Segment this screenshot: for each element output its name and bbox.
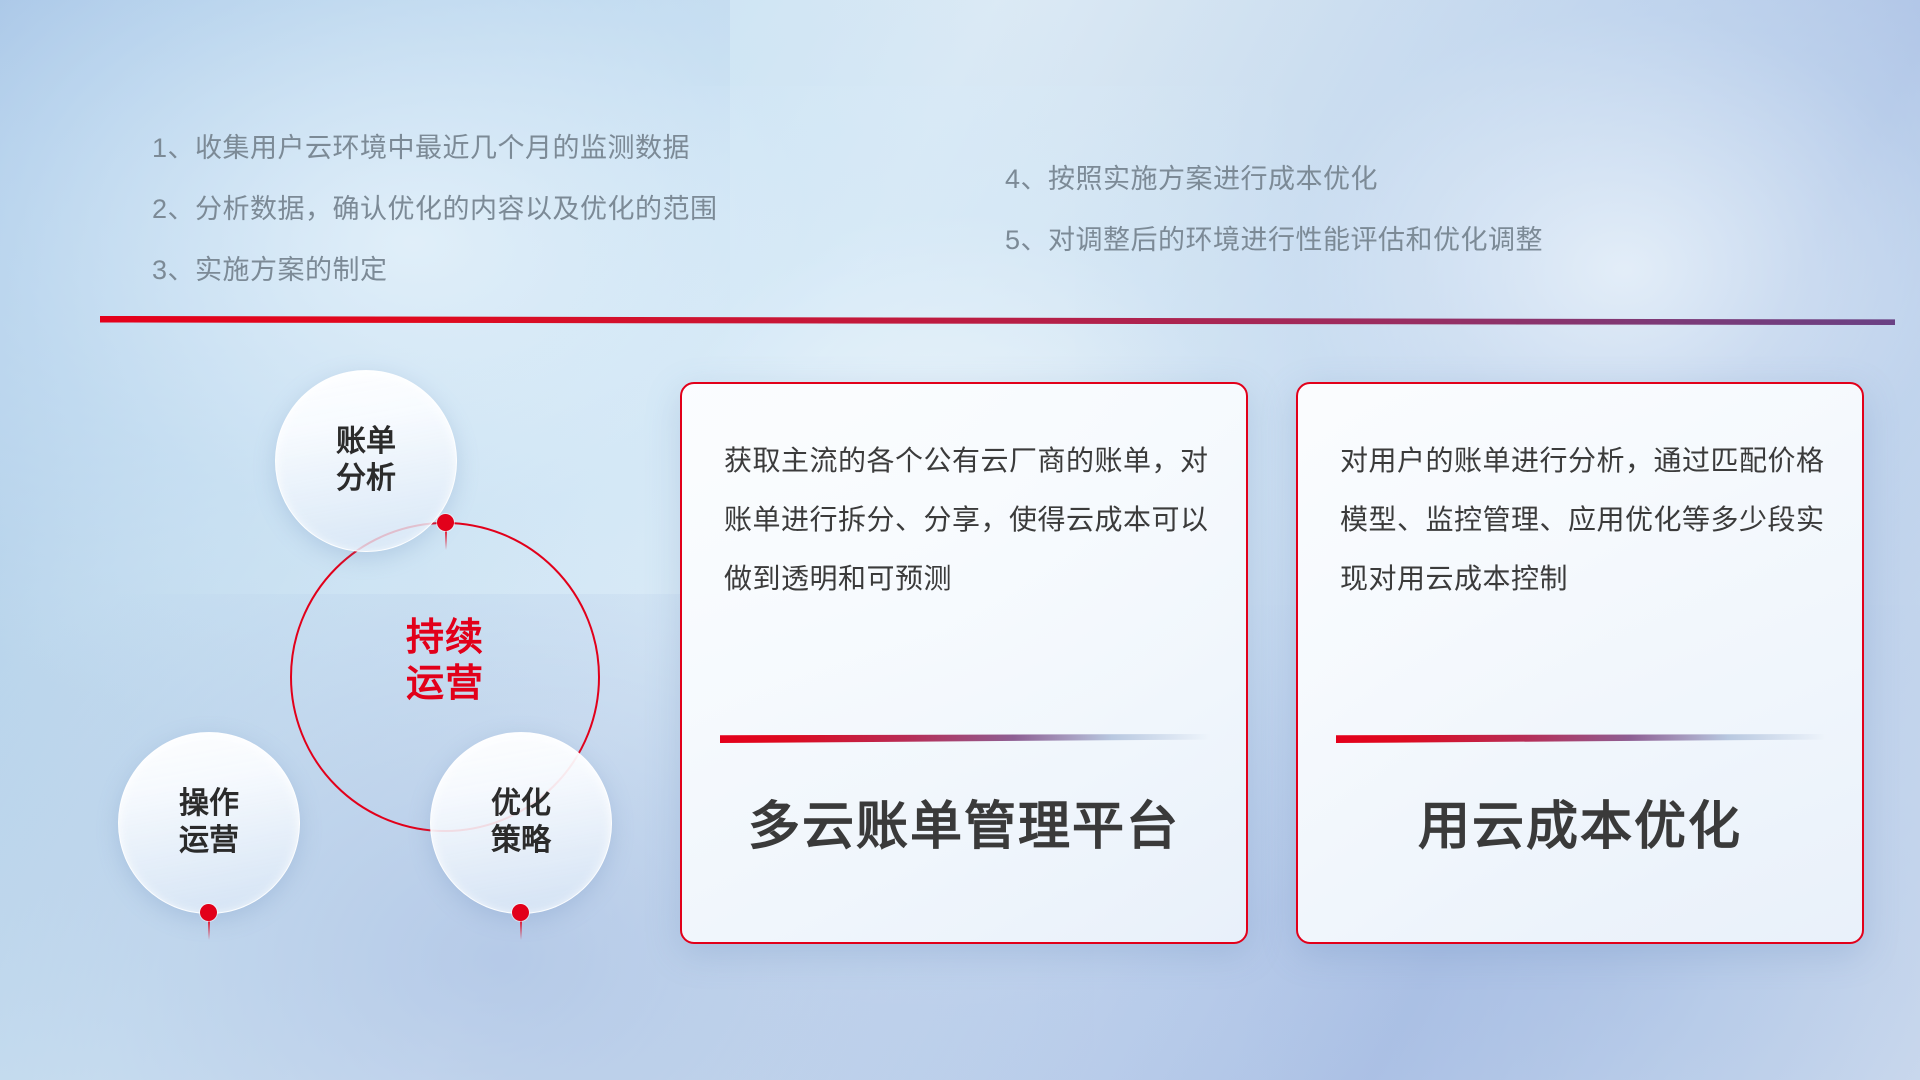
- card-accent-bar: [720, 734, 1210, 743]
- diagram-connector-tick-right: [520, 918, 522, 940]
- diagram-bubble-optimization[interactable]: 优化 策略: [430, 732, 612, 914]
- bubble-label-line2: 策略: [491, 823, 551, 860]
- divider-gradient-bar: [100, 316, 1895, 325]
- card-accent-bar: [1336, 734, 1826, 743]
- bubble-label-line1: 优化: [491, 786, 551, 823]
- step-item-2: 2、分析数据，确认优化的内容以及优化的范围: [152, 187, 718, 226]
- bubble-label-wrap: 优化 策略: [491, 786, 551, 859]
- step-item-4: 4、按照实施方案进行成本优化: [1005, 157, 1378, 196]
- diagram-bubble-operations[interactable]: 操作 运营: [118, 732, 300, 914]
- step-item-3: 3、实施方案的制定: [152, 248, 388, 287]
- card-body-text: 获取主流的各个公有云厂商的账单，对账单进行拆分、分享，使得云成本可以做到透明和可…: [724, 432, 1212, 608]
- card-accent-rule: [1336, 734, 1826, 743]
- step-item-5: 5、对调整后的环境进行性能评估和优化调整: [1005, 218, 1543, 257]
- card-title: 多云账单管理平台: [682, 784, 1246, 859]
- diagram-center-label: 持续 运营: [290, 616, 600, 707]
- step-item-1: 1、收集用户云环境中最近几个月的监测数据: [152, 126, 690, 165]
- diagram-node-dot-top: [437, 514, 454, 531]
- steps-section: 1、收集用户云环境中最近几个月的监测数据 2、分析数据，确认优化的内容以及优化的…: [0, 0, 1920, 300]
- diagram-node-dot-right: [512, 904, 529, 921]
- card-body-text: 对用户的账单进行分析，通过匹配价格模型、监控管理、应用优化等多少段实现对用云成本…: [1340, 432, 1828, 608]
- diagram-center-label-line1: 持续: [290, 616, 600, 662]
- card-title: 用云成本优化: [1298, 784, 1862, 859]
- section-divider: [100, 316, 1895, 325]
- card-multi-cloud-bill-platform[interactable]: 获取主流的各个公有云厂商的账单，对账单进行拆分、分享，使得云成本可以做到透明和可…: [680, 382, 1248, 944]
- bubble-label-line1: 操作: [179, 786, 239, 823]
- card-accent-rule: [720, 734, 1210, 743]
- continuous-operation-diagram: 持续 运营 账单 分析 操作 运营 优化 策略: [100, 352, 640, 962]
- bubble-label-line2: 运营: [179, 823, 239, 860]
- bubble-label-wrap: 账单 分析: [336, 424, 396, 497]
- diagram-node-dot-left: [200, 904, 217, 921]
- bubble-label-wrap: 操作 运营: [179, 786, 239, 859]
- diagram-center-label-line2: 运营: [290, 662, 600, 708]
- card-cloud-cost-optimization[interactable]: 对用户的账单进行分析，通过匹配价格模型、监控管理、应用优化等多少段实现对用云成本…: [1296, 382, 1864, 944]
- diagram-bubble-bill-analysis[interactable]: 账单 分析: [275, 370, 457, 552]
- diagram-connector-tick-top: [445, 528, 447, 550]
- bubble-label-line1: 账单: [336, 424, 396, 461]
- diagram-connector-tick-left: [208, 918, 210, 940]
- bubble-label-line2: 分析: [336, 461, 396, 498]
